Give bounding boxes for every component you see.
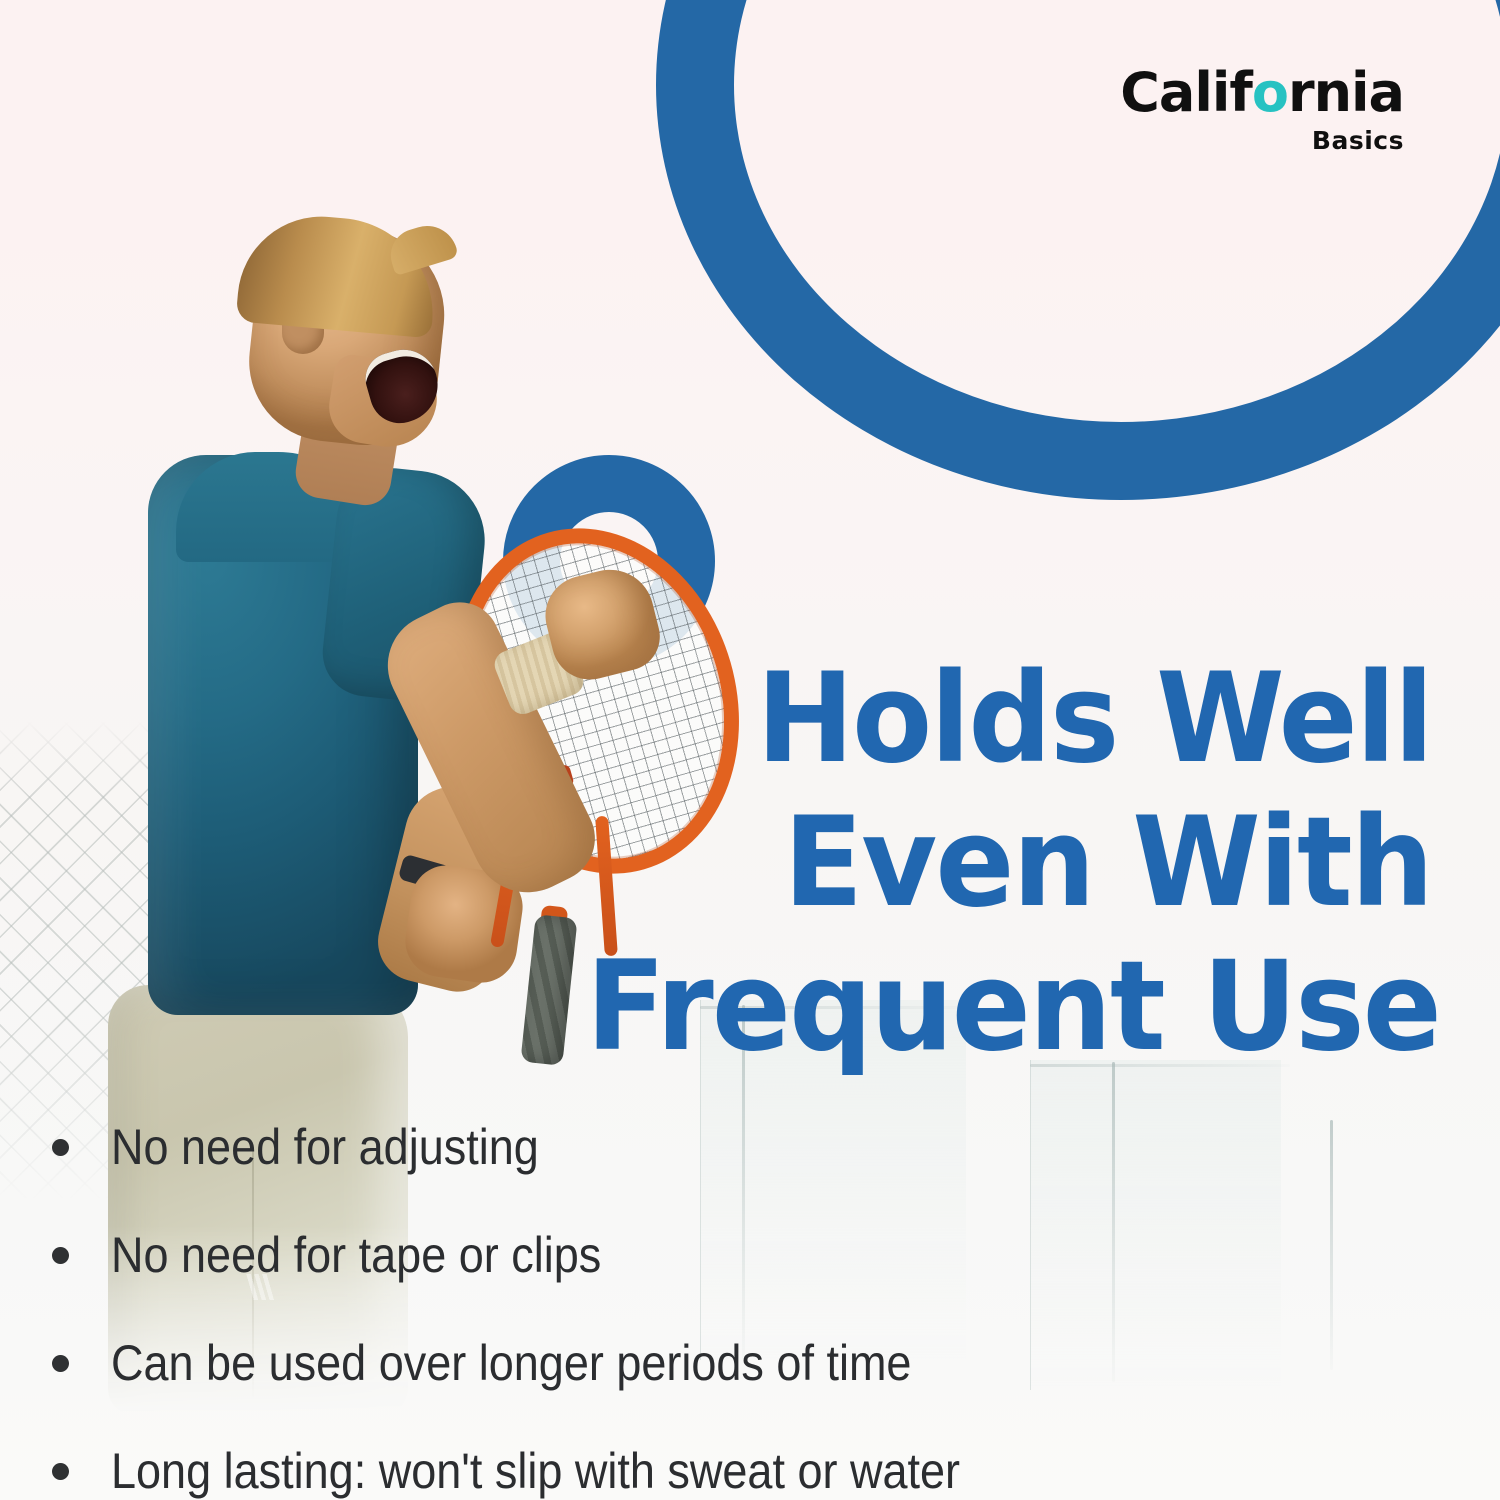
bullet-dot-icon	[52, 1139, 69, 1156]
headline: Holds Well Even With Frequent Use	[532, 648, 1432, 1079]
list-item-label: Can be used over longer periods of time	[111, 1338, 911, 1388]
brand-name-part-2: rnia	[1288, 61, 1404, 124]
list-item-label: Long lasting: won't slip with sweat or w…	[111, 1446, 960, 1496]
brand-name-accent-o: o	[1252, 66, 1288, 120]
headline-line-2: Even With	[586, 792, 1432, 936]
brand-name: California	[1120, 66, 1404, 120]
list-item: No need for adjusting	[52, 1122, 1452, 1172]
feature-bullet-list: No need for adjusting No need for tape o…	[52, 1122, 1452, 1496]
bullet-dot-icon	[52, 1463, 69, 1480]
brand-name-part-1: Calif	[1120, 61, 1252, 124]
list-item: Long lasting: won't slip with sweat or w…	[52, 1446, 1452, 1496]
bullet-dot-icon	[52, 1355, 69, 1372]
list-item-label: No need for adjusting	[111, 1122, 539, 1172]
headline-line-1: Holds Well	[586, 648, 1432, 792]
brand-tagline: Basics	[1120, 128, 1404, 153]
list-item: Can be used over longer periods of time	[52, 1338, 1452, 1388]
promo-image: California Basics Holds Well Even With F…	[0, 0, 1500, 1500]
list-item-label: No need for tape or clips	[111, 1230, 601, 1280]
list-item: No need for tape or clips	[52, 1230, 1452, 1280]
headline-line-3: Frequent Use	[586, 936, 1432, 1080]
brand-logo: California Basics	[1120, 66, 1404, 153]
bullet-dot-icon	[52, 1247, 69, 1264]
